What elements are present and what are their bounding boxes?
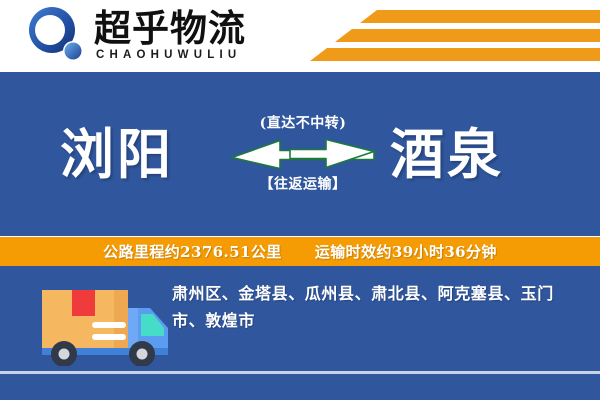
brand-name-en: CHAOHUWULIU [94, 48, 246, 62]
bottom-divider [0, 371, 600, 374]
route-info-bar: 公路里程约2376.51公里 运输时效约39小时36分钟 [0, 237, 600, 266]
header-stripe-3 [310, 48, 600, 61]
coverage-areas-text: 肃州区、金塔县、瓜州县、肃北县、阿克塞县、玉门市、敦煌市 [172, 280, 584, 334]
route-note-top: (直达不中转) [228, 115, 378, 133]
coverage-panel: 肃州区、金塔县、瓜州县、肃北县、阿克塞县、玉门市、敦煌市 [0, 266, 600, 400]
distance-label: 公路里程约2376.51公里 [103, 243, 281, 261]
brand-name-cn: 超乎物流 [94, 8, 246, 48]
route-note-bottom: 【往返运输】 [228, 176, 378, 194]
route-panel: 浏阳 (直达不中转) 【往返运输】 酒泉 [0, 72, 600, 236]
banner-header: 超乎物流 CHAOHUWULIU [0, 0, 600, 70]
circle-crescent-logo-icon [26, 6, 88, 64]
header-stripe-2 [335, 29, 600, 42]
brand-wordmark: 超乎物流 CHAOHUWULIU [94, 6, 246, 62]
duration-label: 运输时效约39小时36分钟 [315, 243, 497, 261]
brand-logo-group: 超乎物流 CHAOHUWULIU [26, 6, 246, 64]
destination-city: 酒泉 [390, 124, 504, 184]
delivery-truck-icon [28, 278, 176, 366]
logistics-route-banner: 超乎物流 CHAOHUWULIU 浏阳 (直达不中转) 【往返运输】 酒泉 [0, 0, 600, 400]
origin-city: 浏阳 [60, 124, 174, 184]
double-arrow-icon [230, 138, 376, 172]
route-info-bar-content: 公路里程约2376.51公里 运输时效约39小时36分钟 [103, 242, 497, 262]
header-stripes-decoration [310, 0, 600, 70]
header-stripe-1 [360, 10, 600, 23]
route-middle-group: (直达不中转) 【往返运输】 [228, 115, 378, 194]
